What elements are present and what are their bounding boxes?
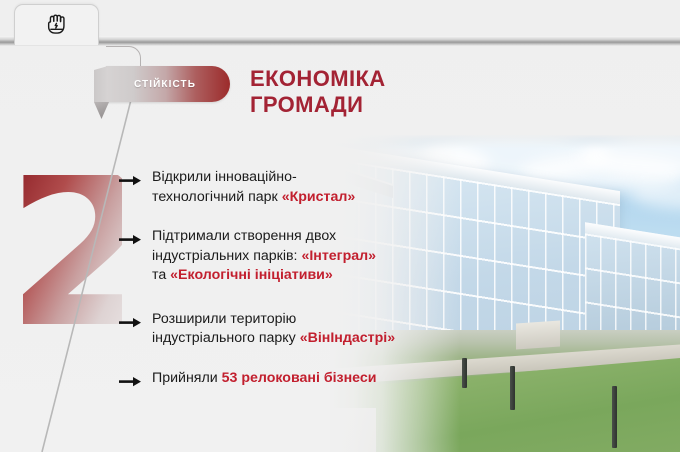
category-ribbon: СТІЙКІСТЬ bbox=[106, 66, 230, 102]
bullet-item: Розширили територіюіндустріального парку… bbox=[118, 310, 508, 349]
bullet-plain: індустріальних парків: bbox=[152, 248, 301, 264]
bullet-list: Відкрили інноваційно-технологічний парк … bbox=[118, 168, 508, 411]
page-title: ЕКОНОМІКА ГРОМАДИ bbox=[250, 66, 386, 118]
bullet-highlight: «Інтеграл» bbox=[301, 248, 376, 264]
planter bbox=[516, 320, 560, 349]
lamp-post bbox=[510, 366, 515, 410]
title-line-1: ЕКОНОМІКА bbox=[250, 66, 386, 92]
fist-icon bbox=[42, 10, 72, 40]
bullet-plain: технологічний парк bbox=[152, 189, 282, 205]
bullet-item: Прийняли 53 релоковані бізнеси bbox=[118, 369, 508, 393]
bullet-highlight: 53 релоковані бізнеси bbox=[222, 370, 377, 386]
ribbon-label: СТІЙКІСТЬ bbox=[106, 66, 230, 102]
bullet-plain: Підтримали створення двох bbox=[152, 228, 336, 244]
bullet-plain: Прийняли bbox=[152, 370, 222, 386]
fist-tab bbox=[14, 4, 99, 45]
title-line-2: ГРОМАДИ bbox=[250, 92, 386, 118]
bullet-text: Підтримали створення двохіндустріальних … bbox=[152, 227, 376, 286]
slide-root: 2 СТІЙКІСТЬ ЕКОНОМІКА ГРОМАДИ Відкрили і… bbox=[0, 0, 680, 452]
bullet-item: Відкрили інноваційно-технологічний парк … bbox=[118, 168, 508, 207]
bullet-plain: Розширили територію bbox=[152, 311, 296, 327]
bullet-text: Прийняли 53 релоковані бізнеси bbox=[152, 369, 376, 389]
bullet-highlight: «Екологічні ініціативи» bbox=[170, 267, 333, 283]
bullet-highlight: «Кристал» bbox=[282, 189, 356, 205]
top-divider-band bbox=[0, 36, 680, 46]
photo-top-fade bbox=[330, 135, 680, 149]
bullet-text: Розширили територіюіндустріального парку… bbox=[152, 310, 395, 349]
bullet-plain: та bbox=[152, 267, 170, 283]
bullet-plain: Відкрили інноваційно- bbox=[152, 169, 297, 185]
arrow-right-icon bbox=[118, 371, 142, 393]
ribbon-tail bbox=[94, 102, 109, 119]
arrow-right-icon bbox=[118, 170, 142, 192]
bullet-highlight: «ВінІндастрі» bbox=[300, 330, 395, 346]
bullet-plain: індустріального парку bbox=[152, 330, 300, 346]
section-number: 2 bbox=[6, 175, 122, 347]
arrow-right-icon bbox=[118, 312, 142, 334]
arrow-right-icon bbox=[118, 229, 142, 251]
bullet-item: Підтримали створення двохіндустріальних … bbox=[118, 227, 508, 286]
lamp-post bbox=[612, 386, 617, 448]
ribbon-body: СТІЙКІСТЬ bbox=[106, 66, 230, 102]
bullet-text: Відкрили інноваційно-технологічний парк … bbox=[152, 168, 355, 207]
